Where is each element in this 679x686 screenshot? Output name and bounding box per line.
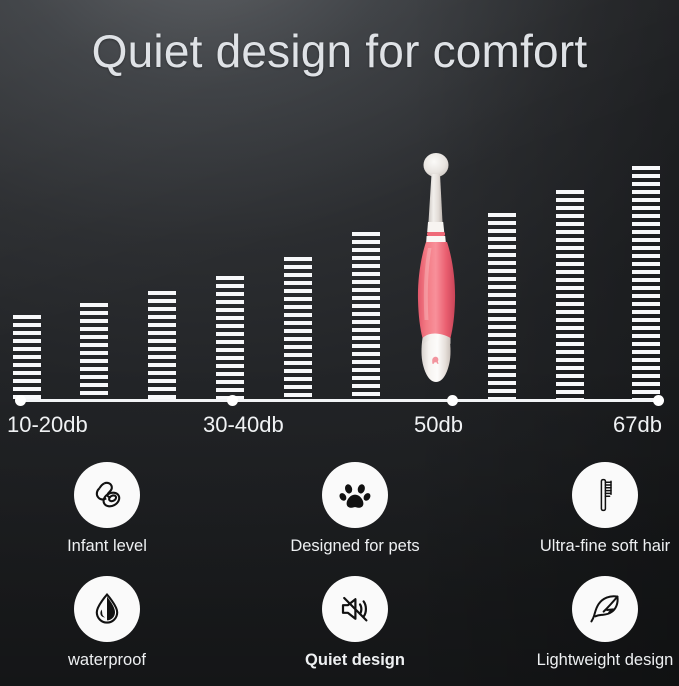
eq-bar bbox=[80, 303, 108, 400]
feature-label: Designed for pets bbox=[255, 537, 455, 556]
eq-bar bbox=[284, 257, 312, 400]
brush-collar bbox=[427, 222, 444, 232]
toothbrush-icon bbox=[572, 462, 638, 528]
bristle-head bbox=[424, 153, 449, 177]
water-drop-icon bbox=[74, 576, 140, 642]
eq-bar bbox=[13, 315, 41, 400]
axis-label-2: 30-40db bbox=[203, 412, 284, 438]
brush-body bbox=[418, 242, 455, 338]
feather-icon bbox=[572, 576, 638, 642]
toothbrush-svg bbox=[408, 148, 466, 386]
brush-neck bbox=[429, 174, 443, 228]
feature-designed-for-pets[interactable]: Designed for pets bbox=[255, 462, 455, 556]
feature-label: Ultra-fine soft hair bbox=[505, 537, 679, 556]
axis-dot-1 bbox=[15, 395, 26, 406]
axis-label-1: 10-20db bbox=[7, 412, 88, 438]
axis-label-3: 50db bbox=[414, 412, 463, 438]
eq-bar bbox=[216, 276, 244, 400]
sound-level-bar-chart bbox=[0, 150, 679, 400]
axis-line bbox=[20, 399, 658, 402]
collar-ring bbox=[427, 232, 445, 236]
feature-label: waterproof bbox=[7, 651, 207, 670]
eq-bar bbox=[488, 213, 516, 400]
feature-waterproof[interactable]: waterproof bbox=[7, 576, 207, 670]
eq-bar bbox=[556, 190, 584, 400]
paw-icon bbox=[322, 462, 388, 528]
axis-dot-2 bbox=[227, 395, 238, 406]
axis-label-4: 67db bbox=[613, 412, 662, 438]
chart-axis bbox=[0, 397, 679, 405]
page-title: Quiet design for comfort bbox=[0, 24, 679, 78]
feature-ultra-fine-soft-hair[interactable]: Ultra-fine soft hair bbox=[505, 462, 679, 556]
axis-tick-labels: 10-20db 30-40db 50db 67db bbox=[0, 412, 679, 444]
mute-icon bbox=[322, 576, 388, 642]
feature-infant-level[interactable]: Infant level bbox=[7, 462, 207, 556]
feature-label: Infant level bbox=[7, 537, 207, 556]
feature-grid: Infant levelDesigned for petsUltra-fine … bbox=[0, 462, 679, 686]
feature-lightweight-design[interactable]: Lightweight design bbox=[505, 576, 679, 670]
axis-dot-3 bbox=[447, 395, 458, 406]
eq-bar bbox=[352, 232, 380, 400]
collar-ring-white bbox=[426, 236, 446, 242]
feature-quiet-design[interactable]: Quiet design bbox=[255, 576, 455, 670]
eq-bar bbox=[632, 166, 660, 400]
eq-bar bbox=[148, 291, 176, 400]
feature-label: Lightweight design bbox=[505, 651, 679, 670]
axis-dot-4 bbox=[653, 395, 664, 406]
product-infographic: Quiet design for comfort 10-20db 30-40db… bbox=[0, 0, 679, 686]
feature-label: Quiet design bbox=[255, 651, 455, 670]
electric-toothbrush-image bbox=[408, 148, 466, 386]
pacifier-icon bbox=[74, 462, 140, 528]
